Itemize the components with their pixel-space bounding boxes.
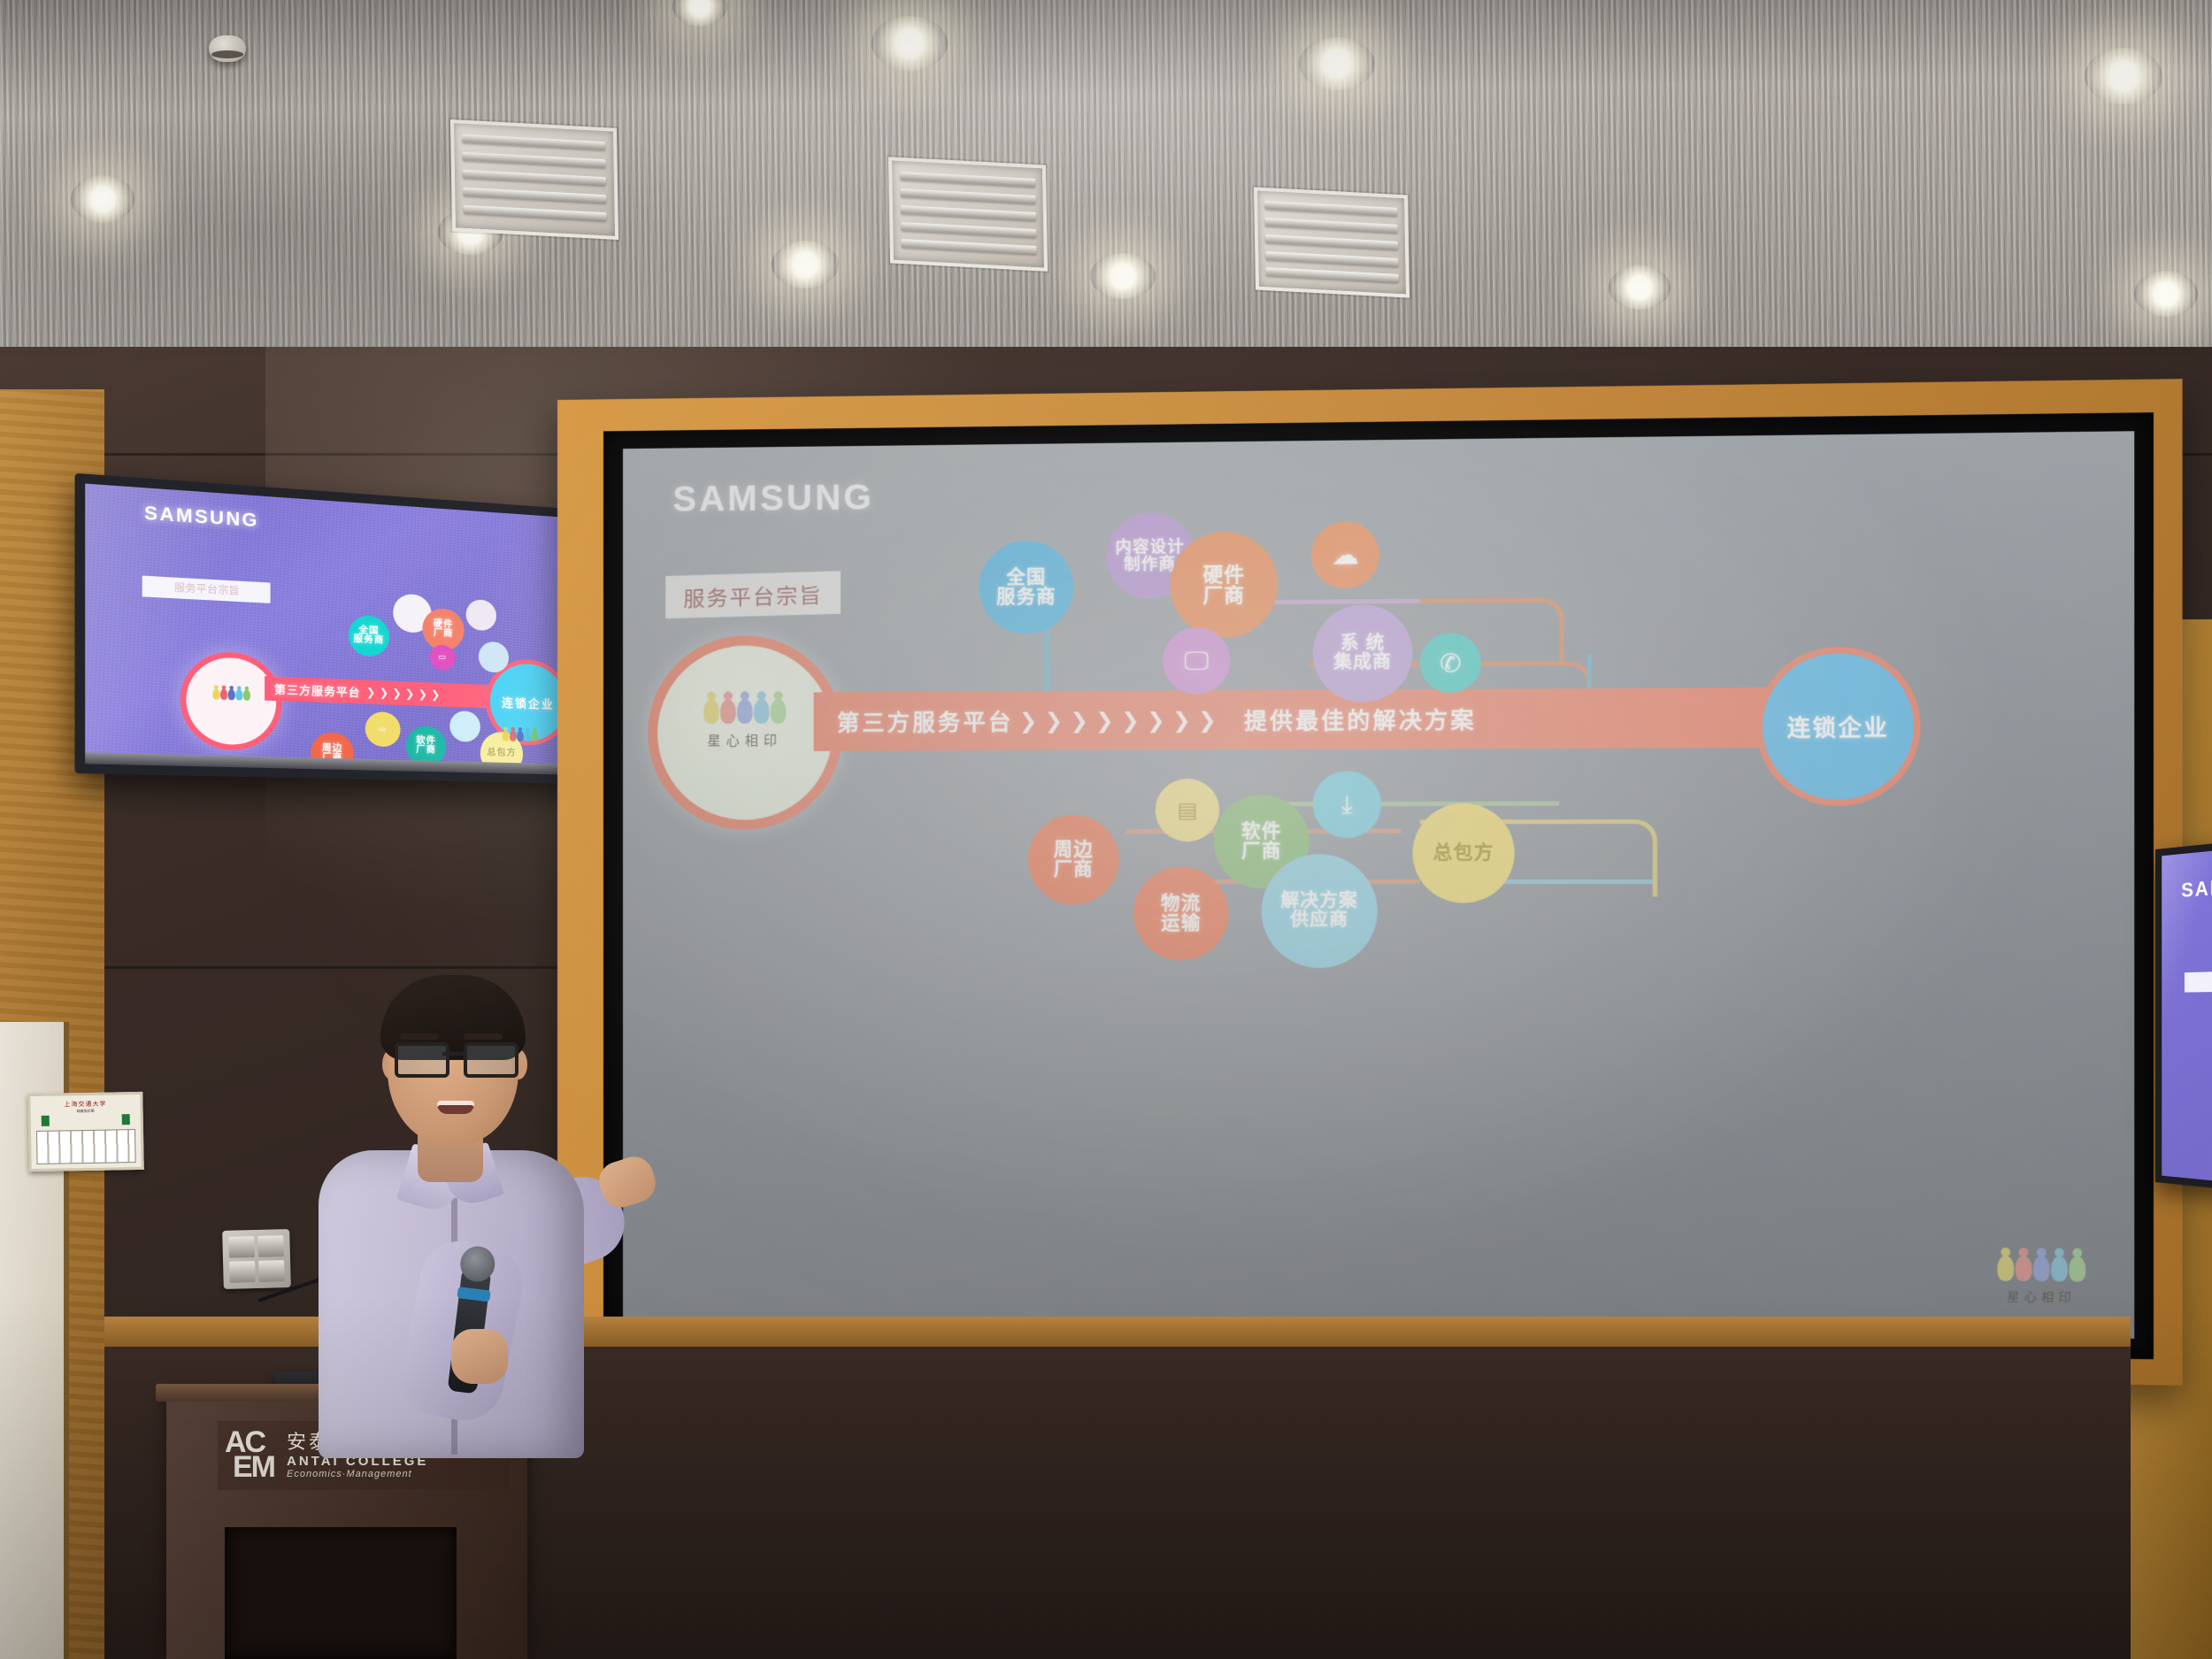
projection-wood-frame: SAMSUNG 服务平台宗旨 — [557, 379, 2183, 1386]
ceiling-spotlight — [2085, 48, 2162, 104]
ceiling-spotlight — [1299, 37, 1375, 90]
right-edge-tv[interactable]: SAM — [2155, 838, 2212, 1194]
left-wall-tv[interactable]: SAMSUNG 服务平台宗旨 第三方服务平台 ❯❯❯❯❯❯ 连锁企业 — [75, 473, 580, 784]
evacuation-map-sign: 上海交通大学 疏散指示图 — [27, 1092, 144, 1171]
wall-light-switch-panel[interactable] — [222, 1229, 291, 1289]
ceiling-air-vent — [888, 157, 1048, 271]
left-hand-holding-mic — [451, 1329, 508, 1384]
left-tv-screen: SAMSUNG 服务平台宗旨 第三方服务平台 ❯❯❯❯❯❯ 连锁企业 — [85, 484, 572, 764]
acem-logo: AC EM — [225, 1431, 274, 1480]
smoke-detector-icon — [209, 35, 246, 62]
right-tv-screen: SAM — [2162, 846, 2212, 1186]
ceiling-spotlight — [1090, 253, 1156, 299]
ceiling-spotlight — [71, 175, 134, 223]
college-subtitle: Economics·Management — [287, 1469, 428, 1479]
projection-screen: SAMSUNG 服务平台宗旨 — [623, 431, 2134, 1339]
ceiling-spotlight — [1609, 265, 1671, 310]
podium-shelf — [225, 1527, 457, 1659]
ceiling-air-vent — [450, 119, 618, 240]
projection-black-border: SAMSUNG 服务平台宗旨 — [603, 412, 2154, 1359]
ceiling-air-vent — [1254, 187, 1409, 297]
ceiling-spotlight — [772, 241, 839, 288]
eyeglasses — [395, 1042, 511, 1072]
ceiling-spotlight — [872, 16, 948, 71]
ceiling-spotlight — [2134, 271, 2198, 317]
mouth-speaking — [437, 1101, 474, 1114]
photo-scene: 上海交通大学 疏散指示图 SAMSUNG 服务平台宗旨 — [0, 0, 2212, 1659]
ceiling-shading — [0, 0, 2212, 398]
speaker-person — [319, 977, 611, 1455]
